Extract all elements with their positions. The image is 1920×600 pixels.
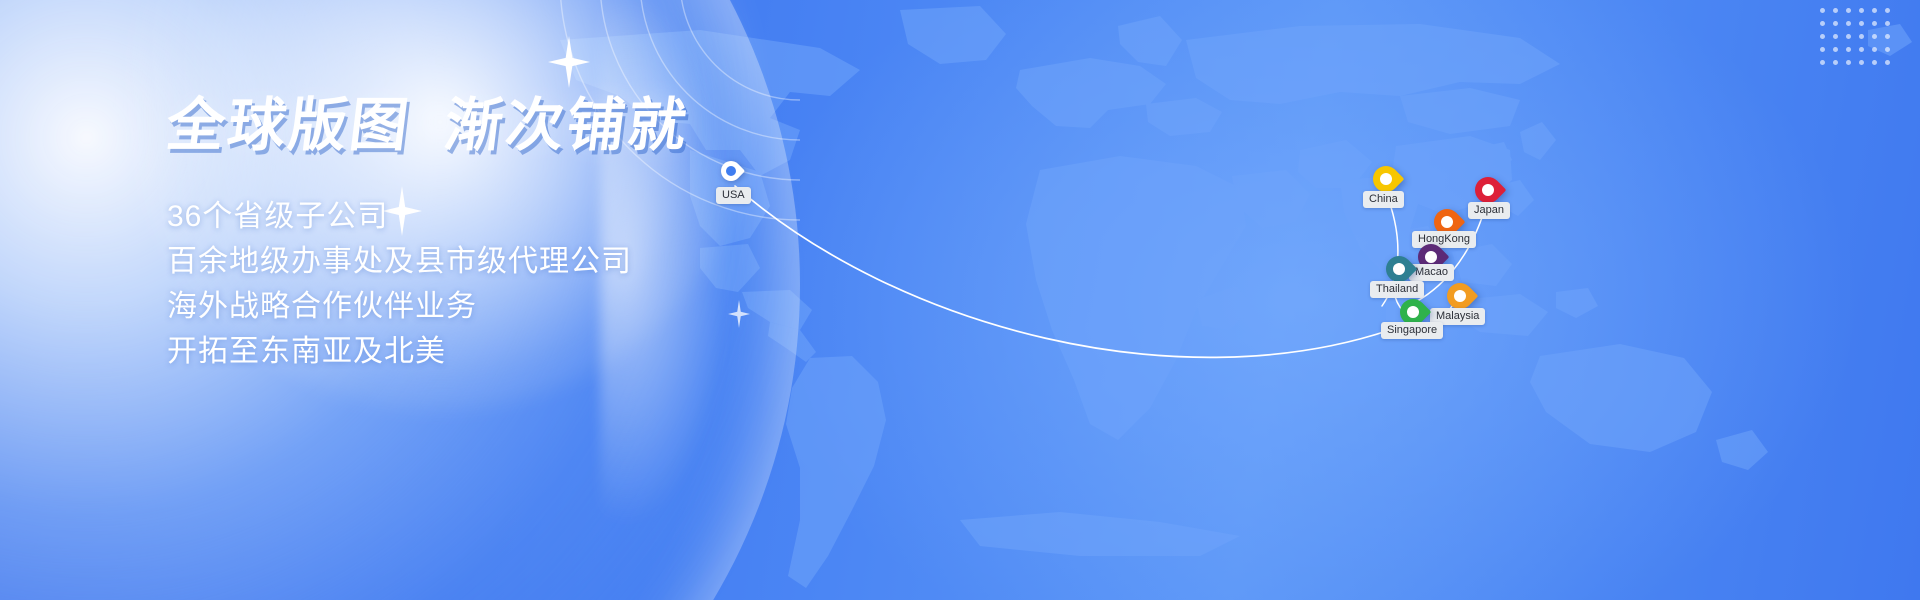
headline-part-2: 渐次铺就 [441, 91, 693, 159]
pin-icon [717, 157, 745, 185]
subtext-line: 百余地级办事处及县市级代理公司 [167, 239, 927, 284]
headline-part-1: 全球版图 [163, 91, 415, 159]
subtext-line: 36个省级子公司 [167, 194, 927, 239]
map-label-usa: USA [716, 187, 751, 204]
banner-subtext-list: 36个省级子公司 百余地级办事处及县市级代理公司 海外战略合作伙伴业务 开拓至东… [167, 194, 927, 374]
page-title: 全球版图渐次铺就 [163, 96, 930, 154]
map-label-singapore: Singapore [1381, 322, 1443, 339]
map-label-thailand: Thailand [1370, 281, 1424, 298]
map-label-china: China [1363, 191, 1404, 208]
subtext-line: 开拓至东南亚及北美 [167, 329, 927, 374]
map-label-japan: Japan [1468, 202, 1510, 219]
dot-grid-decoration [1820, 8, 1898, 73]
banner-copy: 全球版图渐次铺就 36个省级子公司 百余地级办事处及县市级代理公司 海外战略合作… [167, 96, 927, 374]
subtext-line: 海外战略合作伙伴业务 [167, 284, 927, 329]
global-map-banner: 全球版图渐次铺就 36个省级子公司 百余地级办事处及县市级代理公司 海外战略合作… [0, 0, 1920, 600]
